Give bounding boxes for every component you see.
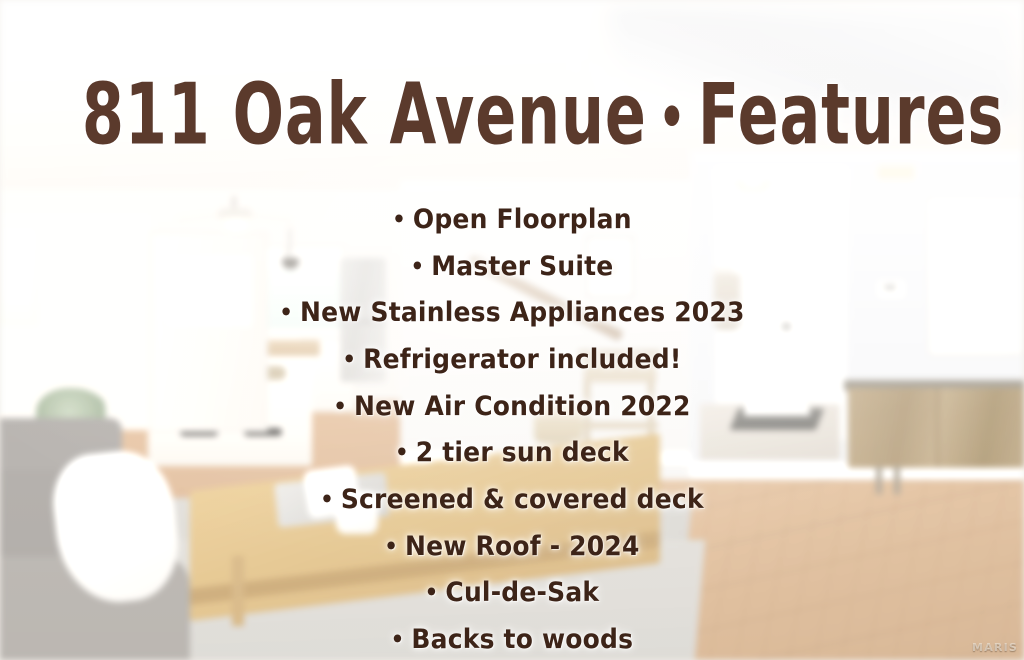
feature-label: Master Suite: [431, 250, 613, 281]
feature-label: New Air Condition 2022: [354, 390, 691, 421]
bullet-icon: •: [411, 253, 432, 278]
flyer-title: 811 Oak Avenue•Features: [82, 72, 942, 157]
text-overlay: 811 Oak Avenue•Features •Open Floorplan …: [0, 0, 1024, 660]
feature-item-backs-to-woods: •Backs to woods: [0, 615, 1024, 660]
bullet-icon: •: [425, 580, 446, 605]
bullet-icon: •: [384, 533, 405, 558]
feature-label: New Stainless Appliances 2023: [300, 297, 745, 328]
feature-item-cul-de-sak: •Cul-de-Sak: [0, 568, 1024, 617]
feature-label: Screened & covered deck: [341, 484, 704, 515]
feature-label: Backs to woods: [411, 624, 633, 655]
feature-label: Refrigerator included!: [363, 344, 681, 375]
bullet-icon: •: [343, 346, 364, 371]
feature-item-refrigerator-included: •Refrigerator included!: [0, 335, 1024, 384]
listing-flyer: 811 Oak Avenue•Features •Open Floorplan …: [0, 0, 1024, 660]
feature-item-open-floorplan: •Open Floorplan: [0, 195, 1024, 244]
feature-item-new-roof: •New Roof - 2024: [0, 521, 1024, 570]
title-address: 811 Oak Avenue: [82, 64, 647, 163]
feature-label: Cul-de-Sak: [445, 577, 599, 608]
feature-label: Open Floorplan: [413, 204, 632, 235]
feature-item-new-air-condition: •New Air Condition 2022: [0, 381, 1024, 430]
feature-item-sun-deck: •2 tier sun deck: [0, 428, 1024, 477]
title-heading: Features: [698, 64, 1004, 163]
bullet-icon: •: [395, 440, 416, 465]
features-list: •Open Floorplan •Master Suite •New Stain…: [0, 196, 1024, 660]
bullet-icon: •: [333, 393, 354, 418]
feature-item-master-suite: •Master Suite: [0, 241, 1024, 290]
feature-item-stainless-appliances: •New Stainless Appliances 2023: [0, 288, 1024, 337]
bullet-icon: •: [391, 626, 412, 651]
feature-label: 2 tier sun deck: [416, 437, 629, 468]
mls-watermark: MARIS: [972, 641, 1018, 654]
title-separator-dot: •: [647, 83, 698, 151]
bullet-icon: •: [320, 486, 341, 511]
bullet-icon: •: [279, 300, 300, 325]
bullet-icon: •: [392, 206, 413, 231]
feature-label: New Roof - 2024: [405, 530, 640, 561]
feature-item-screened-covered-deck: •Screened & covered deck: [0, 475, 1024, 524]
